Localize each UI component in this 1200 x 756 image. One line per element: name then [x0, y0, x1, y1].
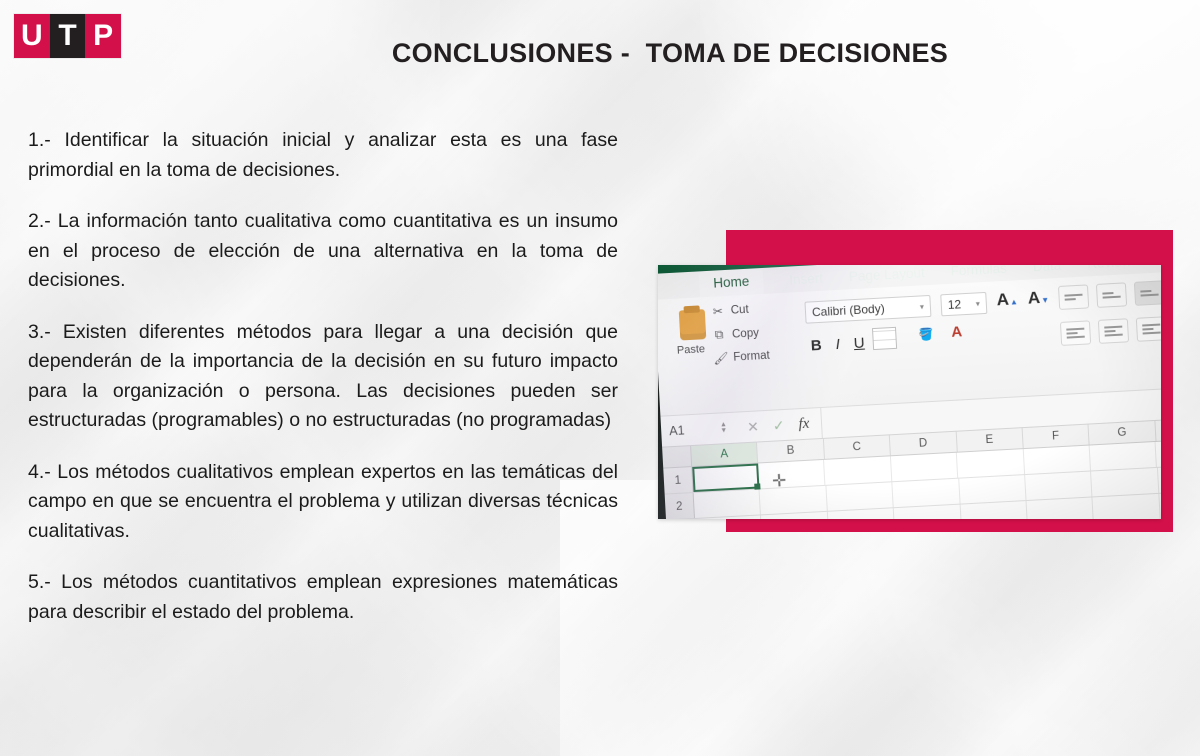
cell-a2[interactable]: [694, 489, 762, 518]
cell-b1[interactable]: [758, 460, 826, 489]
cell-e2[interactable]: [959, 475, 1027, 504]
column-header-d[interactable]: D: [890, 432, 957, 456]
conclusion-paragraph-4: 4.- Los métodos cualitativos emplean exp…: [28, 458, 618, 547]
tab-insert[interactable]: Insert: [789, 270, 824, 287]
excel-window: Home Insert Page Layout Formulas Data Re…: [658, 265, 1161, 519]
cut-label: Cut: [731, 304, 750, 317]
tab-review[interactable]: Review: [1087, 265, 1132, 271]
fill-bucket-icon: 🪣: [918, 327, 934, 342]
chevron-down-icon: ▾: [976, 299, 980, 308]
copy-icon: ⧉: [712, 327, 727, 343]
column-header-a[interactable]: A: [691, 442, 758, 466]
up-arrow-icon: ▲: [1010, 297, 1018, 306]
cell-e1[interactable]: [957, 449, 1025, 478]
column-header-b[interactable]: B: [757, 439, 824, 463]
format-label: Format: [733, 350, 770, 364]
cell-b2[interactable]: [760, 486, 828, 515]
tab-home[interactable]: Home: [699, 268, 764, 297]
align-top-button[interactable]: [1058, 284, 1089, 310]
row-header-1[interactable]: 1: [663, 467, 693, 494]
select-all-corner[interactable]: [662, 446, 692, 468]
align-right-button[interactable]: [1136, 316, 1161, 342]
grow-font-button[interactable]: A▲: [996, 289, 1018, 310]
name-box-spinner-icon[interactable]: ▲▼: [720, 422, 728, 434]
row-header-2[interactable]: 2: [665, 493, 695, 519]
italic-button[interactable]: I: [835, 336, 840, 353]
column-header-h[interactable]: H: [1155, 417, 1161, 441]
cell-g3[interactable]: [1093, 494, 1161, 519]
cell-d3[interactable]: [894, 505, 962, 519]
cell-c1[interactable]: [824, 456, 892, 485]
confirm-formula-icon[interactable]: ✓: [772, 417, 785, 435]
insert-function-icon[interactable]: fx: [798, 415, 810, 433]
copy-label: Copy: [732, 327, 759, 340]
bold-button[interactable]: B: [810, 337, 822, 355]
conclusion-paragraph-2: 2.- La información tanto cualitativa com…: [28, 207, 618, 296]
conclusion-paragraph-5: 5.- Los métodos cuantitativos emplean ex…: [28, 568, 618, 627]
scissors-icon: ✂: [710, 304, 725, 319]
horizontal-align-row: [1060, 311, 1161, 347]
chevron-down-icon: ▾: [920, 302, 924, 311]
underline-button[interactable]: U: [853, 335, 865, 353]
conclusion-paragraph-3: 3.- Existen diferentes métodos para lleg…: [28, 318, 618, 436]
font-name-select[interactable]: Calibri (Body) ▾: [804, 295, 931, 324]
copy-button[interactable]: ⧉ Copy: [712, 325, 769, 343]
font-size-select[interactable]: 12 ▾: [940, 292, 987, 316]
borders-button[interactable]: [872, 327, 897, 350]
cell-f1[interactable]: [1023, 446, 1091, 475]
cell-f2[interactable]: [1025, 471, 1093, 500]
decorative-photo-block: Home Insert Page Layout Formulas Data Re…: [655, 228, 1180, 536]
slide-canvas: U T P CONCLUSIONES - TOMA DE DECISIONES …: [0, 0, 1200, 756]
formula-bar-actions: ✕ ✓ fx: [735, 415, 822, 437]
column-header-e[interactable]: E: [956, 428, 1023, 452]
grow-font-label: A: [996, 290, 1009, 310]
cell-h3[interactable]: [1159, 490, 1161, 519]
page-title: CONCLUSIONES - TOMA DE DECISIONES: [0, 38, 1200, 69]
column-header-g[interactable]: G: [1089, 421, 1156, 445]
align-left-button[interactable]: [1060, 320, 1091, 346]
cell-f3[interactable]: [1026, 497, 1094, 519]
column-header-c[interactable]: C: [824, 435, 891, 459]
format-painter-button[interactable]: 🖌 Format: [713, 349, 770, 366]
cell-d1[interactable]: [891, 453, 959, 482]
align-center-button[interactable]: [1098, 318, 1129, 344]
excel-screen: Home Insert Page Layout Formulas Data Re…: [658, 265, 1161, 519]
conclusions-list: 1.- Identificar la situación inicial y a…: [28, 126, 618, 627]
cancel-formula-icon[interactable]: ✕: [747, 418, 760, 436]
cell-g1[interactable]: [1090, 442, 1158, 471]
align-middle-button[interactable]: [1096, 282, 1127, 308]
name-box[interactable]: A1 ▲▼: [661, 421, 736, 439]
alignment-group: [1058, 276, 1161, 358]
excel-screenshot-photo: Home Insert Page Layout Formulas Data Re…: [658, 265, 1161, 519]
font-size-value: 12: [947, 297, 961, 312]
cell-g2[interactable]: [1091, 468, 1159, 497]
cell-d2[interactable]: [892, 479, 960, 508]
tab-formulas[interactable]: Formulas: [950, 265, 1007, 278]
conclusion-paragraph-1: 1.- Identificar la situación inicial y a…: [28, 126, 618, 185]
shrink-font-label: A: [1027, 288, 1040, 308]
font-color-a-icon: A: [951, 323, 963, 341]
name-box-value: A1: [669, 423, 685, 438]
fill-color-button[interactable]: 🪣: [918, 325, 936, 344]
cut-button[interactable]: ✂ Cut: [710, 302, 767, 319]
cell-e3[interactable]: [960, 501, 1028, 519]
font-scale-buttons: A▲ A▼: [996, 288, 1049, 311]
paste-icon[interactable]: [679, 309, 707, 340]
cell-cursor-icon: ✛: [772, 473, 789, 490]
paintbrush-icon: 🖌: [713, 351, 728, 366]
font-name-value: Calibri (Body): [812, 301, 885, 319]
cell-c2[interactable]: [826, 482, 894, 511]
shrink-font-button[interactable]: A▼: [1027, 288, 1049, 309]
cell-h2[interactable]: [1158, 464, 1161, 493]
cell-a1[interactable]: [692, 463, 759, 492]
font-group: Calibri (Body) ▾ 12 ▾ A▲: [804, 289, 1035, 323]
tab-page-layout[interactable]: Page Layout: [849, 265, 926, 284]
down-arrow-icon: ▼: [1041, 296, 1049, 305]
font-color-button[interactable]: A: [951, 323, 969, 342]
color-buttons: 🪣 A: [918, 323, 969, 344]
cell-h1[interactable]: [1156, 438, 1161, 467]
align-bottom-button[interactable]: [1134, 280, 1161, 306]
tab-data[interactable]: Data: [1032, 265, 1061, 274]
vertical-align-row: [1058, 276, 1161, 312]
column-header-f[interactable]: F: [1022, 425, 1089, 449]
clipboard-commands: ✂ Cut ⧉ Copy 🖌 Format: [710, 302, 770, 375]
